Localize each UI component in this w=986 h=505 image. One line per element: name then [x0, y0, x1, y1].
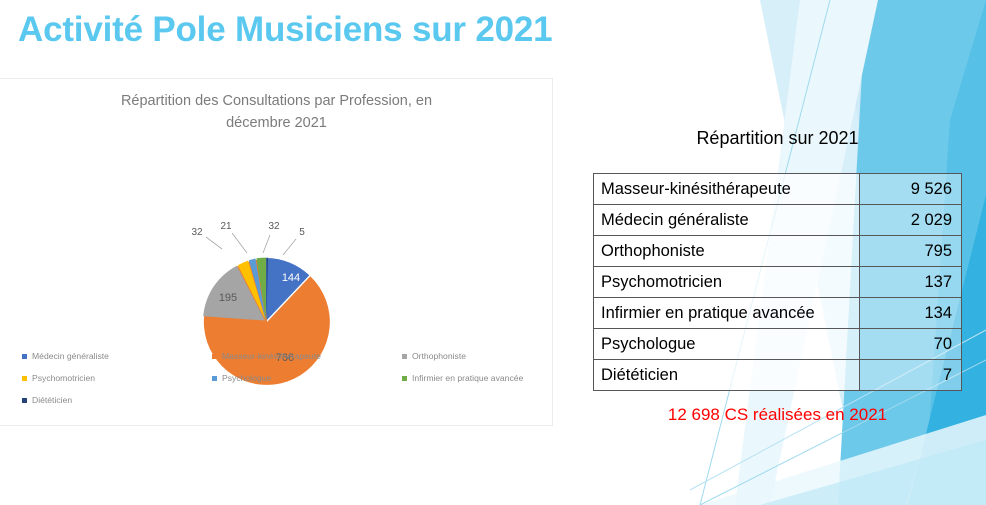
legend-item-infirmier-pratique-avancee[interactable]: Infirmier en pratique avancée: [402, 373, 602, 383]
slide-canvas: Activité Pole Musiciens sur 2021 Réparti…: [0, 0, 986, 505]
table-cell-value: 137: [860, 267, 962, 298]
table-cell-profession: Psychomotricien: [594, 267, 860, 298]
table-row: Infirmier en pratique avancée 134: [594, 298, 962, 329]
pie-label-21-psychologue: 21: [220, 221, 232, 232]
pie-label-5-dieteticien: 5: [299, 227, 305, 238]
legend-item-psychologue[interactable]: Psychologue: [212, 373, 402, 383]
table-heading: Répartition sur 2021: [593, 128, 962, 149]
pie-label-195: 195: [219, 292, 237, 304]
legend-item-orthophoniste[interactable]: Orthophoniste: [402, 351, 602, 361]
table-cell-value: 70: [860, 329, 962, 360]
legend-label: Infirmier en pratique avancée: [412, 373, 523, 383]
legend-item-masseur-kinesitherapeute[interactable]: Masseur-kinésithérapeute: [212, 351, 402, 361]
legend-label: Diététicien: [32, 395, 72, 405]
table-cell-value: 134: [860, 298, 962, 329]
chart-legend: Médecin généraliste Masseur-kinésithérap…: [22, 351, 542, 405]
chart-title: Répartition des Consultations par Profes…: [0, 90, 553, 135]
table-cell-profession: Orthophoniste: [594, 236, 860, 267]
legend-item-psychomotricien[interactable]: Psychomotricien: [22, 373, 212, 383]
table-cell-profession: Diététicien: [594, 360, 860, 391]
legend-swatch-icon: [402, 376, 407, 381]
legend-label: Psychomotricien: [32, 373, 95, 383]
repartition-table: Masseur-kinésithérapeute 9 526 Médecin g…: [593, 173, 962, 391]
table-cell-profession: Infirmier en pratique avancée: [594, 298, 860, 329]
legend-item-dieteticien[interactable]: Diététicien: [22, 395, 212, 405]
chart-panel: Répartition des Consultations par Profes…: [0, 78, 553, 426]
table-row: Masseur-kinésithérapeute 9 526: [594, 174, 962, 205]
decor-shape-light-3: [760, 440, 986, 505]
table-row: Psychologue 70: [594, 329, 962, 360]
pie-label-32-psychomotricien: 32: [191, 227, 203, 238]
table-cell-profession: Masseur-kinésithérapeute: [594, 174, 860, 205]
table-cell-profession: Médecin généraliste: [594, 205, 860, 236]
legend-swatch-icon: [22, 354, 27, 359]
total-consultations-note: 12 698 CS réalisées en 2021: [593, 405, 962, 425]
legend-label: Médecin généraliste: [32, 351, 109, 361]
table-cell-profession: Psychologue: [594, 329, 860, 360]
table-cell-value: 9 526: [860, 174, 962, 205]
table-row: Médecin généraliste 2 029: [594, 205, 962, 236]
decor-shape-light-2: [700, 415, 986, 505]
legend-swatch-icon: [212, 354, 217, 359]
table-row: Orthophoniste 795: [594, 236, 962, 267]
legend-label: Masseur-kinésithérapeute: [222, 351, 321, 361]
table-cell-value: 795: [860, 236, 962, 267]
page-title: Activité Pole Musiciens sur 2021: [18, 10, 552, 50]
pie-label-32-infirmier: 32: [268, 221, 280, 232]
table-row: Psychomotricien 137: [594, 267, 962, 298]
legend-swatch-icon: [212, 376, 217, 381]
table-cell-value: 7: [860, 360, 962, 391]
legend-swatch-icon: [22, 376, 27, 381]
legend-swatch-icon: [402, 354, 407, 359]
legend-swatch-icon: [22, 398, 27, 403]
legend-label: Orthophoniste: [412, 351, 466, 361]
table-cell-value: 2 029: [860, 205, 962, 236]
legend-item-medecin-generaliste[interactable]: Médecin généraliste: [22, 351, 212, 361]
legend-label: Psychologue: [222, 373, 271, 383]
table-row: Diététicien 7: [594, 360, 962, 391]
pie-label-144: 144: [282, 272, 300, 284]
chart-title-line-2: décembre 2021: [226, 115, 327, 131]
pie-leader-lines: [206, 233, 296, 255]
chart-title-line-1: Répartition des Consultations par Profes…: [121, 93, 432, 109]
